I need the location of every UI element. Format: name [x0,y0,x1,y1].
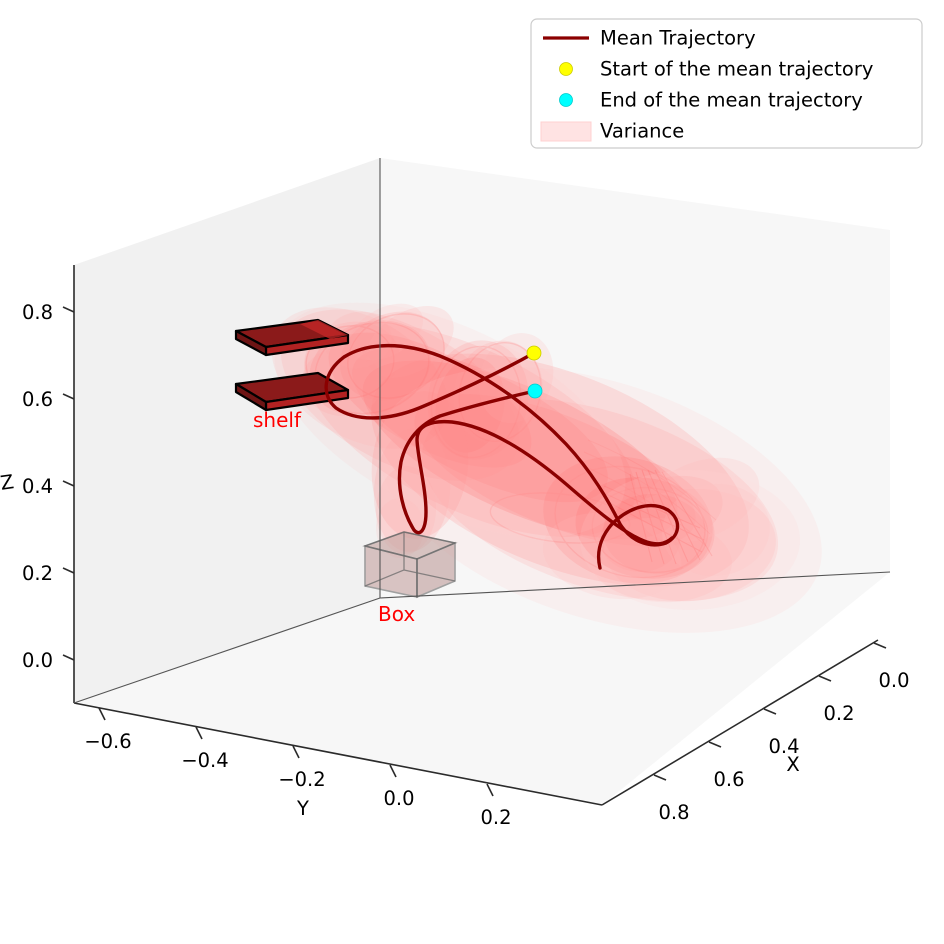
legend-start-marker-swatch [560,63,573,76]
y-tick-2: −0.2 [278,768,325,791]
legend-entry-start-marker[interactable]: Start of the mean trajectory [560,58,874,81]
z-tick-4: 0.8 [22,301,53,324]
shelf-annotation-label: shelf [253,408,302,432]
y-axis-title: Y [296,797,309,820]
box-annotation-label: Box [378,602,415,626]
legend-entry-end-marker[interactable]: End of the mean trajectory [560,89,863,112]
z-tick-0: 0.0 [22,649,53,672]
z-tick-2: 0.4 [22,475,53,498]
legend-variance-swatch [541,122,591,141]
y-tick-1: −0.4 [181,749,228,772]
legend-label-mean-trajectory: Mean Trajectory [600,27,756,50]
y-tick-3: 0.0 [383,787,414,810]
figure-3d-trajectory-plot: shelf Box [0,0,944,944]
x-tick-4: 0.8 [658,801,689,824]
y-tick-4: 0.2 [480,806,511,829]
x-tick-1: 0.2 [823,702,854,725]
legend-end-marker-swatch [560,94,573,107]
start-marker-point [527,346,541,360]
z-axis-ticks: 0.0 0.2 0.4 0.6 0.8 Z [0,301,74,672]
legend-label-start-marker: Start of the mean trajectory [600,58,873,81]
x-axis-title: X [786,753,799,776]
z-tick-1: 0.2 [22,562,53,585]
x-tick-0: 0.0 [878,669,909,692]
plot-canvas: shelf Box [0,0,944,944]
x-tick-3: 0.6 [713,768,744,791]
legend-label-end-marker: End of the mean trajectory [600,89,863,112]
legend-entry-variance[interactable]: Variance [541,120,684,143]
box-object [365,532,455,597]
legend-label-variance: Variance [600,120,684,143]
y-tick-0: −0.6 [84,730,131,753]
z-axis-title: Z [0,470,15,495]
end-marker-point [528,384,542,398]
legend[interactable]: Mean Trajectory Start of the mean trajec… [531,19,922,148]
z-tick-3: 0.6 [22,388,53,411]
